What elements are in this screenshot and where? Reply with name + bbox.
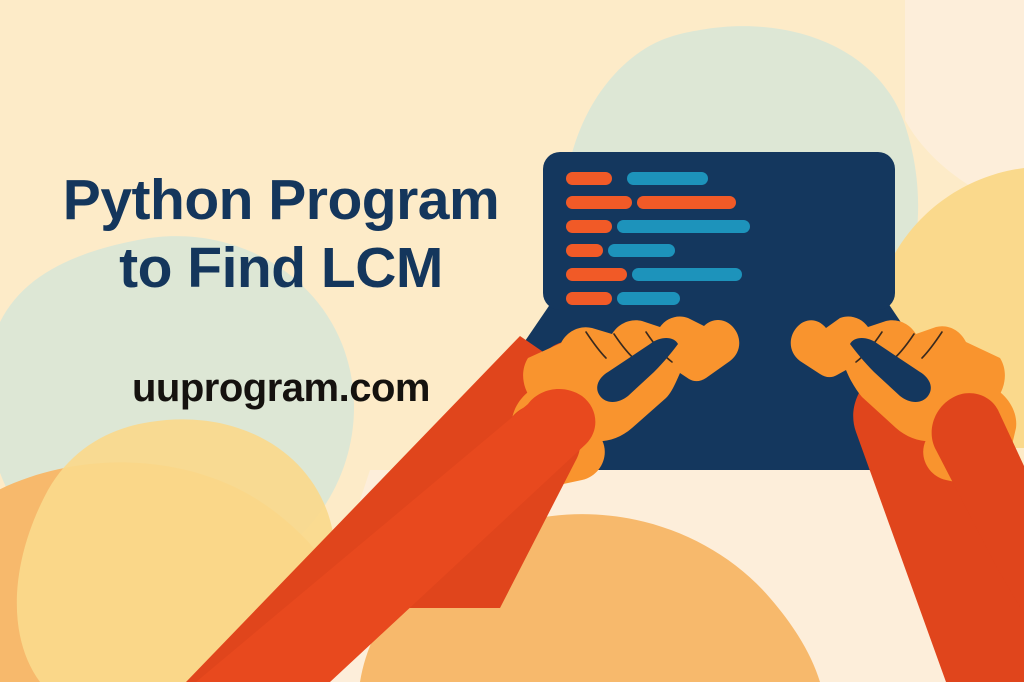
code-indent-bar: [566, 244, 603, 257]
code-indent-bar: [566, 268, 627, 281]
code-token-bar: [637, 196, 736, 209]
code-token-bar: [632, 268, 742, 281]
code-token-bar: [617, 292, 680, 305]
poster-canvas: Python Program to Find LCM uuprogram.com: [0, 0, 1024, 682]
code-indent-bar: [566, 292, 612, 305]
illustration-artwork: [0, 0, 1024, 682]
code-token-bar: [617, 220, 750, 233]
code-indent-bar: [566, 172, 612, 185]
code-indent-bar: [566, 196, 632, 209]
code-indent-bar: [566, 220, 612, 233]
code-token-bar: [608, 244, 675, 257]
code-token-bar: [627, 172, 708, 185]
